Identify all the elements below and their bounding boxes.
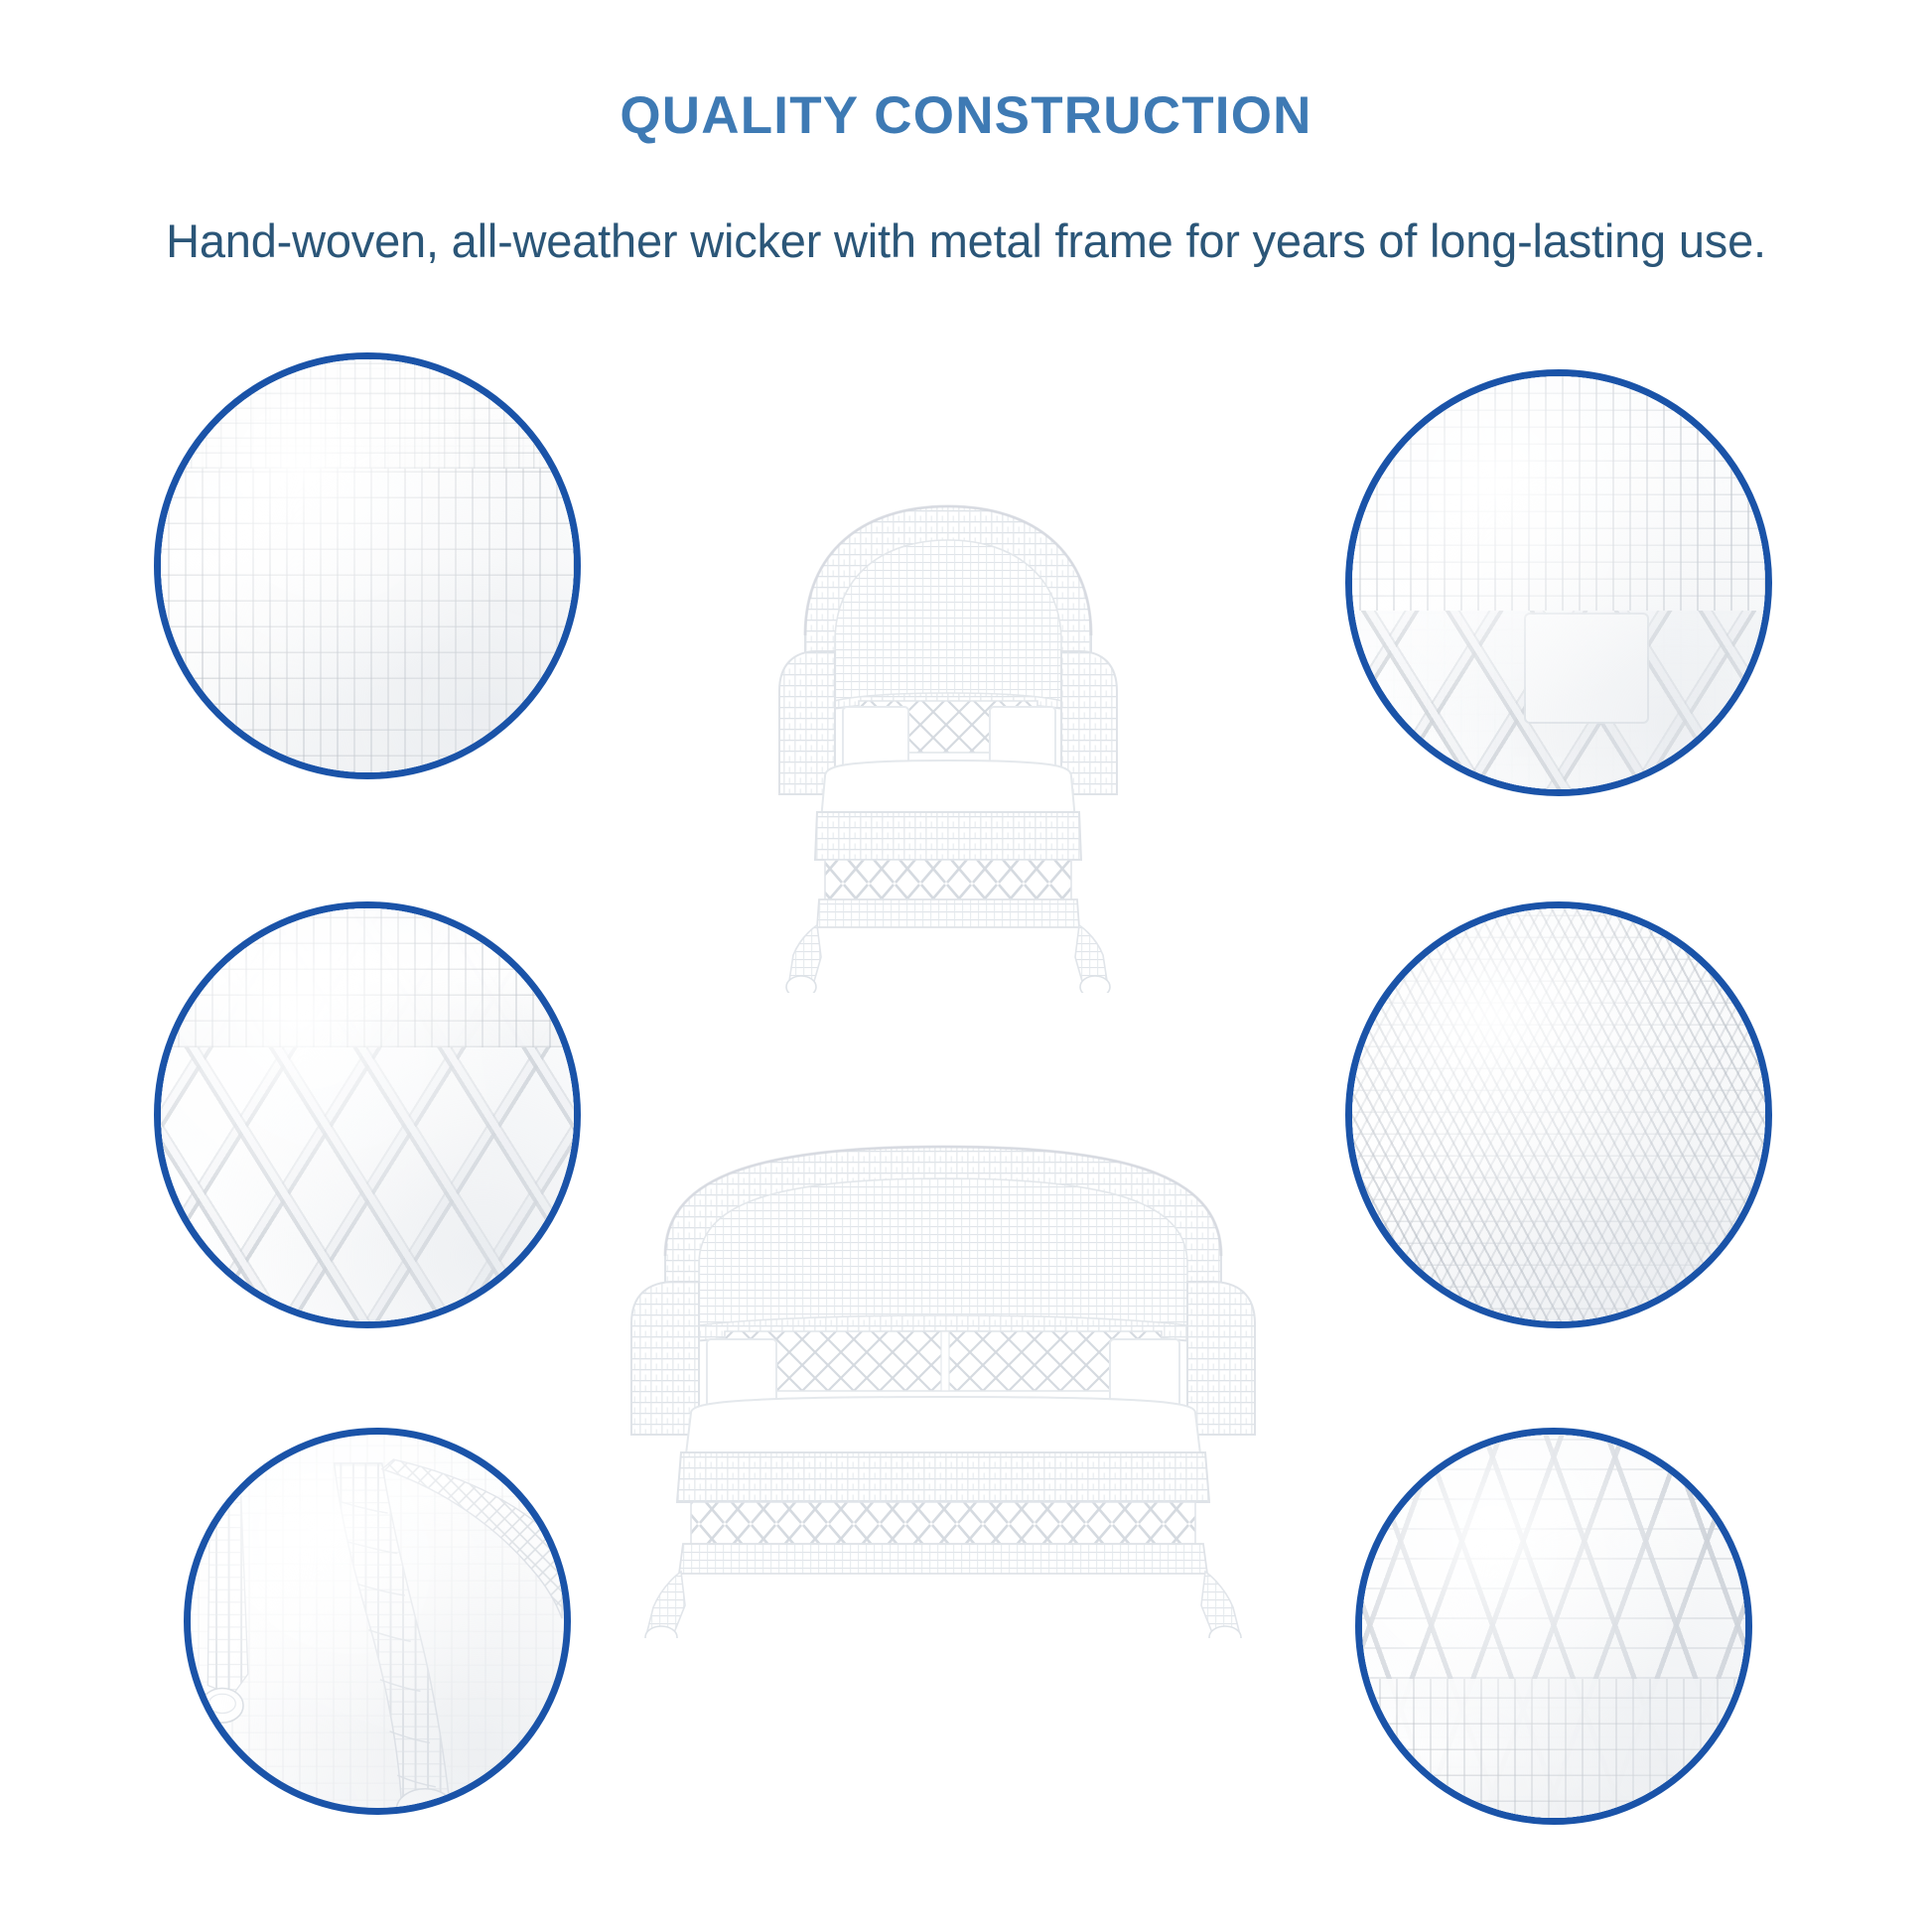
- page-subtitle: Hand-woven, all-weather wicker with meta…: [0, 213, 1932, 268]
- cushion-corner: [1526, 615, 1647, 722]
- callout-middle-right: [1345, 901, 1772, 1328]
- wicker-texture-flat-band-bottom: [1362, 1679, 1745, 1825]
- wicker-texture-flat-band-top: [161, 901, 574, 1047]
- armchair-illustration: [740, 467, 1157, 993]
- page-title: QUALITY CONSTRUCTION: [0, 85, 1932, 146]
- wicker-texture-mesh-band: [161, 352, 574, 469]
- callout-top-left: [154, 352, 581, 779]
- loveseat-illustration: [596, 1107, 1291, 1638]
- callout-bottom-left: [184, 1428, 571, 1815]
- leg-detail-illustration: [191, 1435, 564, 1808]
- callout-middle-left: [154, 901, 581, 1328]
- product-armchair: [740, 467, 1157, 993]
- callout-bottom-right: [1355, 1428, 1752, 1825]
- wicker-texture-herringbone: [1345, 901, 1772, 1328]
- product-loveseat: [596, 1107, 1291, 1638]
- callout-top-right: [1345, 369, 1772, 796]
- header-block: QUALITY CONSTRUCTION Hand-woven, all-wea…: [0, 0, 1932, 268]
